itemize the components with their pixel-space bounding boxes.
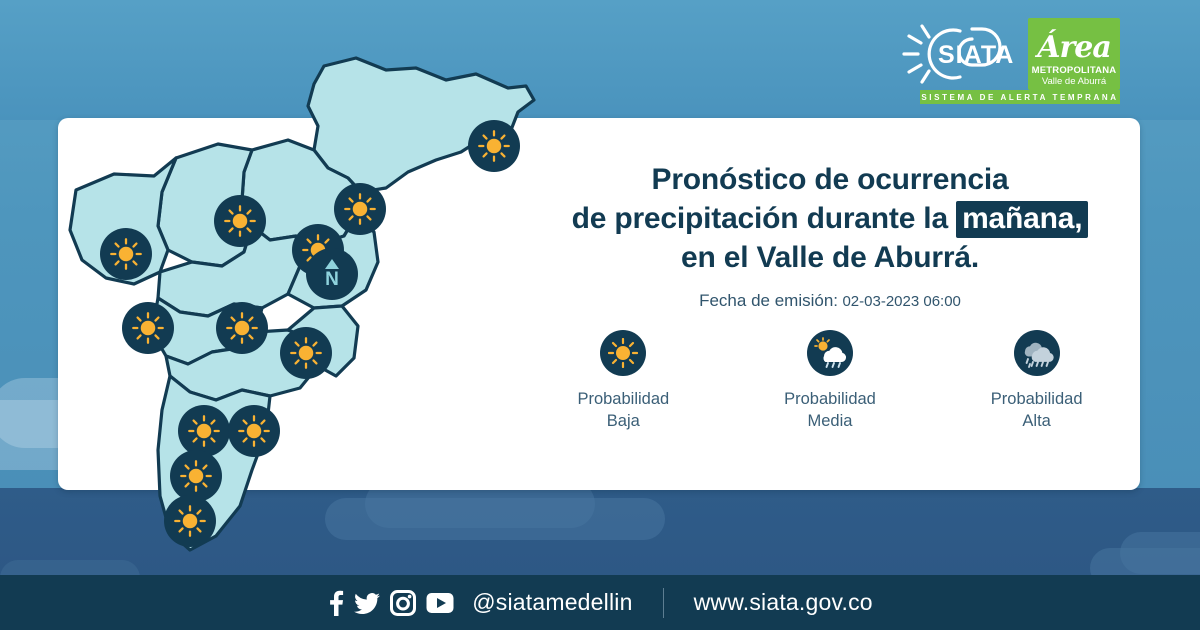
valle-de-aburra-map: N: [56, 40, 556, 570]
sun-icon: [608, 338, 638, 368]
footer-divider: [663, 588, 664, 618]
area-script-text: Área: [1037, 33, 1111, 63]
map-marker-medellin: [216, 302, 268, 354]
title-line-1: Pronóstico de ocurrencia: [520, 160, 1140, 199]
instagram-icon[interactable]: [390, 590, 416, 616]
legend-badge: [1014, 330, 1060, 376]
compass-label: N: [325, 270, 339, 289]
forecast-text-panel: Pronóstico de ocurrencia de precipitació…: [520, 160, 1140, 311]
legend-caption-line1: Probabilidad: [991, 388, 1083, 410]
svg-text:SIATA: SIATA: [938, 41, 1014, 69]
area-line1: METROPOLITANA: [1032, 65, 1117, 76]
north-arrow-icon: [325, 259, 339, 269]
map-marker-san-pedro: [100, 228, 152, 280]
legend-item-baja: Probabilidad Baja: [538, 330, 708, 432]
social-handle[interactable]: @siatamedellin: [472, 589, 632, 616]
facebook-icon[interactable]: [327, 590, 344, 616]
map-marker-bello: [214, 195, 266, 247]
map-marker-girardota: [334, 183, 386, 235]
sun-rain-cloud-icon: [813, 337, 847, 369]
title-line-3: en el Valle de Aburrá.: [520, 238, 1140, 277]
sun-cloud-outline-icon: SIATA: [900, 18, 1028, 90]
legend-badge: [600, 330, 646, 376]
probability-legend: Probabilidad Baja: [520, 330, 1140, 432]
map-marker-layer: [56, 40, 556, 570]
tagline-text: SISTEMA DE ALERTA TEMPRANA: [921, 93, 1118, 102]
youtube-icon[interactable]: [426, 592, 454, 614]
twitter-icon[interactable]: [354, 590, 380, 616]
siata-logo: SIATA: [900, 18, 1028, 90]
title-line-2: de precipitación durante la mañana,: [520, 199, 1140, 238]
map-marker-amaga: [164, 495, 216, 547]
legend-caption: Probabilidad Media: [784, 388, 876, 432]
website-url[interactable]: www.siata.gov.co: [694, 589, 873, 616]
compass-badge: N: [306, 248, 358, 300]
legend-caption-line1: Probabilidad: [784, 388, 876, 410]
social-icons: [327, 590, 454, 616]
highlight-period: mañana,: [956, 201, 1088, 238]
legend-caption-line1: Probabilidad: [577, 388, 669, 410]
tagline-strip: SISTEMA DE ALERTA TEMPRANA: [920, 90, 1120, 104]
map-marker-sabaneta: [228, 405, 280, 457]
legend-caption-line2: Baja: [577, 410, 669, 432]
area-metropolitana-logo: Área METROPOLITANA Valle de Aburrá: [1028, 18, 1120, 90]
area-line2: Valle de Aburrá: [1042, 76, 1106, 87]
map-marker-la-estrella: [178, 405, 230, 457]
map-marker-envigado: [280, 327, 332, 379]
rain-cloud-icon: [1020, 337, 1054, 369]
legend-item-alta: Probabilidad Alta: [952, 330, 1122, 432]
title-line-2-text: de precipitación durante la: [572, 202, 948, 235]
legend-caption: Probabilidad Baja: [577, 388, 669, 432]
issue-date-label: Fecha de emisión:: [699, 291, 838, 310]
issue-date-value: 02-03-2023 06:00: [842, 293, 960, 310]
map-marker-barbosa: [468, 120, 520, 172]
page-title: Pronóstico de ocurrencia de precipitació…: [520, 160, 1140, 277]
legend-caption-line2: Media: [784, 410, 876, 432]
legend-caption: Probabilidad Alta: [991, 388, 1083, 432]
footer-bar: @siatamedellin www.siata.gov.co: [0, 575, 1200, 630]
legend-badge: [807, 330, 853, 376]
infographic-root: SIATA Área METROPOLITANA Valle de Aburrá…: [0, 0, 1200, 630]
map-marker-caldas: [170, 450, 222, 502]
cloud-decoration: [1120, 532, 1200, 574]
map-marker-itagui: [122, 302, 174, 354]
issue-date: Fecha de emisión: 02-03-2023 06:00: [520, 291, 1140, 311]
legend-item-media: Probabilidad Media: [745, 330, 915, 432]
legend-caption-line2: Alta: [991, 410, 1083, 432]
